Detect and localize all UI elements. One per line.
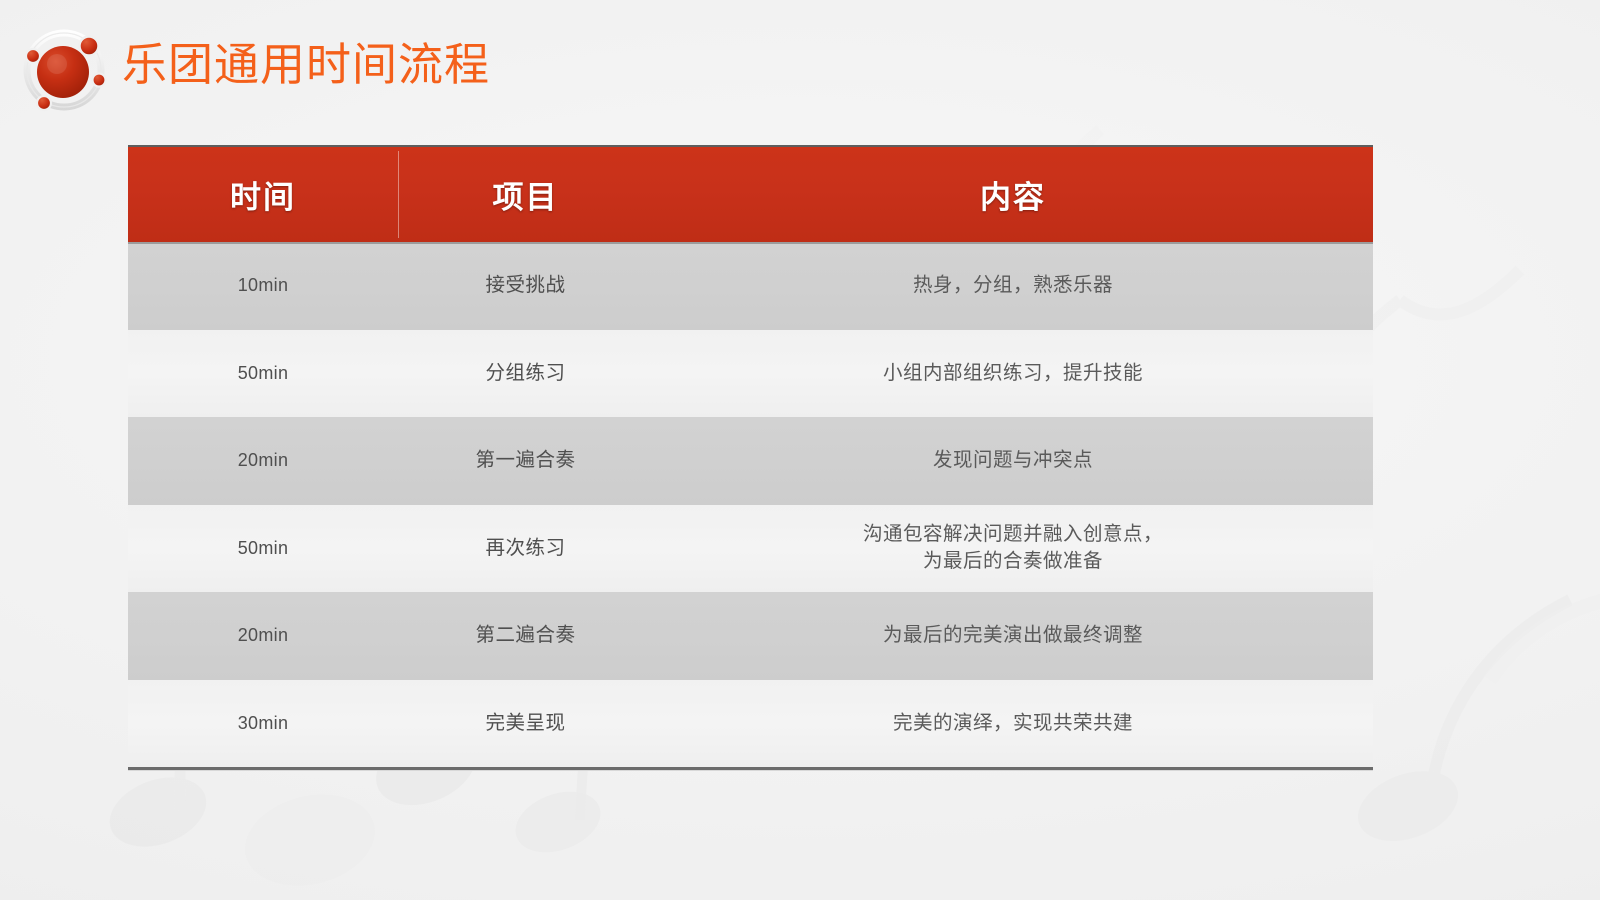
cell-time: 20min xyxy=(128,622,398,649)
cell-item: 再次练习 xyxy=(398,535,653,562)
cell-content: 沟通包容解决问题并融入创意点， 为最后的合奏做准备 xyxy=(653,521,1373,575)
schedule-table: 时间 项目 内容 10min 接受挑战 热身，分组，熟悉乐器 50min 分组练… xyxy=(128,145,1373,771)
cell-item: 第二遍合奏 xyxy=(398,622,653,649)
cell-content: 热身，分组，熟悉乐器 xyxy=(653,272,1373,299)
table-row: 50min 分组练习 小组内部组织练习，提升技能 xyxy=(128,330,1373,418)
table-row: 30min 完美呈现 完美的演绎，实现共荣共建 xyxy=(128,680,1373,768)
page-title: 乐团通用时间流程 xyxy=(122,34,490,96)
cell-item: 接受挑战 xyxy=(398,272,653,299)
column-header-content: 内容 xyxy=(653,172,1373,217)
table-row: 20min 第一遍合奏 发现问题与冲突点 xyxy=(128,417,1373,505)
cell-item: 第一遍合奏 xyxy=(398,447,653,474)
cell-time: 30min xyxy=(128,710,398,737)
table-header-row: 时间 项目 内容 xyxy=(128,145,1373,242)
content-line: 热身，分组，熟悉乐器 xyxy=(653,272,1373,299)
content-line: 为最后的合奏做准备 xyxy=(653,548,1373,575)
slide-canvas: 乐团通用时间流程 时间 项目 内容 10min 接受挑战 热身，分组，熟悉乐器 … xyxy=(0,0,1600,900)
content-line: 沟通包容解决问题并融入创意点， xyxy=(653,521,1373,548)
table-bottom-rule xyxy=(128,767,1373,771)
slide-header: 乐团通用时间流程 xyxy=(0,0,1600,132)
table-row: 20min 第二遍合奏 为最后的完美演出做最终调整 xyxy=(128,592,1373,680)
cell-item: 完美呈现 xyxy=(398,710,653,737)
cell-content: 小组内部组织练习，提升技能 xyxy=(653,360,1373,387)
column-header-item: 项目 xyxy=(398,172,653,217)
content-line: 完美的演绎，实现共荣共建 xyxy=(653,710,1373,737)
cell-content: 为最后的完美演出做最终调整 xyxy=(653,622,1373,649)
band-logo xyxy=(14,18,114,118)
table-row: 50min 再次练习 沟通包容解决问题并融入创意点， 为最后的合奏做准备 xyxy=(128,505,1373,593)
cell-item: 分组练习 xyxy=(398,360,653,387)
content-line: 小组内部组织练习，提升技能 xyxy=(653,360,1373,387)
content-line: 发现问题与冲突点 xyxy=(653,447,1373,474)
column-header-time: 时间 xyxy=(128,172,398,217)
cell-time: 10min xyxy=(128,272,398,299)
cell-content: 发现问题与冲突点 xyxy=(653,447,1373,474)
cell-content: 完美的演绎，实现共荣共建 xyxy=(653,710,1373,737)
content-line: 为最后的完美演出做最终调整 xyxy=(653,622,1373,649)
header-column-divider xyxy=(398,151,399,238)
table-row: 10min 接受挑战 热身，分组，熟悉乐器 xyxy=(128,242,1373,330)
cell-time: 50min xyxy=(128,360,398,387)
cell-time: 20min xyxy=(128,447,398,474)
cell-time: 50min xyxy=(128,535,398,562)
